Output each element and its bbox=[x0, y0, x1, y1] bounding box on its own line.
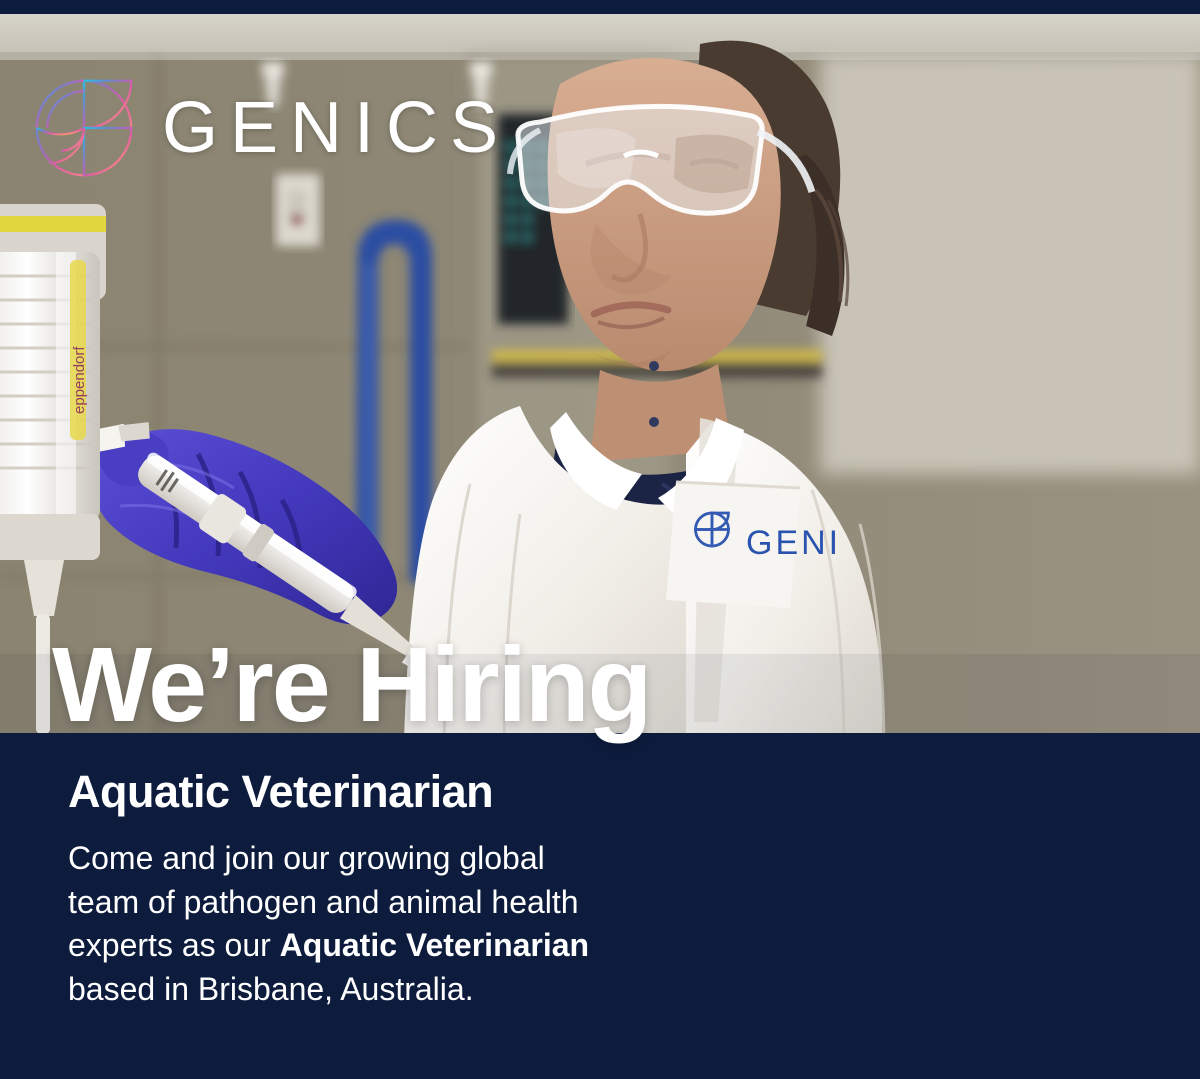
genics-logo-mark bbox=[28, 72, 140, 184]
desc-line-2: team of pathogen and animal health bbox=[68, 884, 579, 920]
panel-copy: Aquatic Veterinarian Come and join our g… bbox=[68, 768, 748, 1011]
brand-lockup: GENICS bbox=[28, 72, 510, 184]
poster-canvas: GENI bbox=[0, 0, 1200, 1079]
desc-line-4: based in Brisbane, Australia. bbox=[68, 971, 474, 1007]
brand-wordmark: GENICS bbox=[162, 92, 510, 164]
svg-text:eppendorf: eppendorf bbox=[71, 346, 88, 414]
info-panel: Aquatic Veterinarian Come and join our g… bbox=[0, 733, 1200, 1079]
brand-gradient-bar bbox=[0, 0, 1200, 14]
job-title: Aquatic Veterinarian bbox=[68, 768, 748, 815]
job-description: Come and join our growing global team of… bbox=[68, 837, 748, 1011]
svg-text:GENI: GENI bbox=[746, 524, 841, 562]
desc-line-1: Come and join our growing global bbox=[68, 840, 545, 876]
desc-line-3-role: Aquatic Veterinarian bbox=[280, 927, 589, 963]
headline-were-hiring: We’re Hiring bbox=[52, 632, 650, 738]
desc-line-3-prefix: experts as our bbox=[68, 927, 280, 963]
